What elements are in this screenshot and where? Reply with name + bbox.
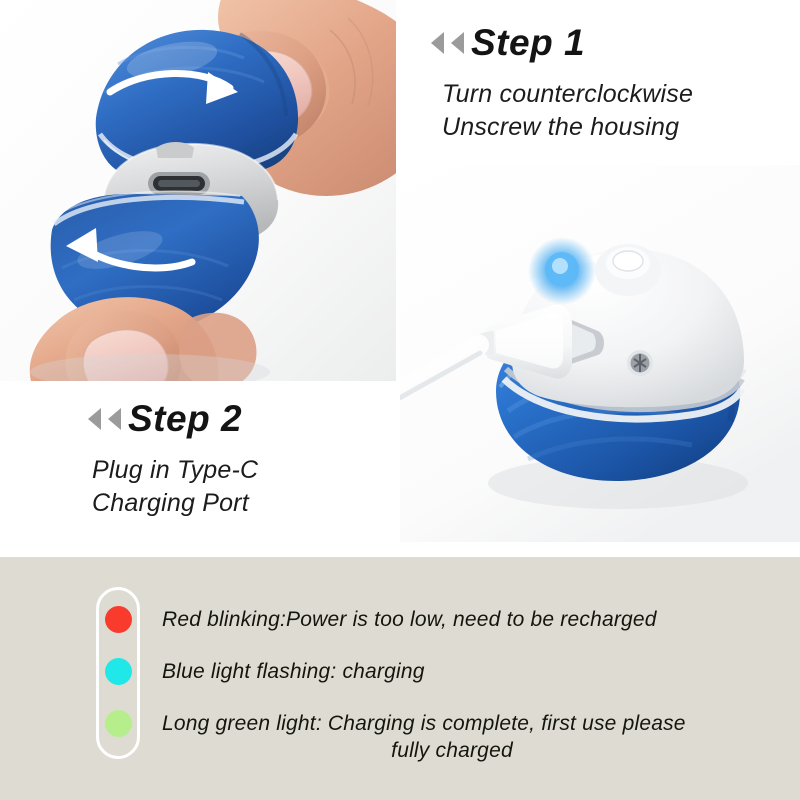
charging-illustration [400,165,800,542]
step-2-heading: Step 2 [88,400,242,437]
double-left-triangle-icon-a [431,32,444,54]
step-1-title: Step 1 [471,24,585,61]
step-2-title: Step 2 [128,400,242,437]
led-glow-icon [528,237,596,305]
unscrew-illustration [0,0,396,381]
step-1-heading: Step 1 [431,24,585,61]
legend-text-green-line2: fully charged [162,737,742,764]
step-1-body: Turn counterclockwise Unscrew the housin… [442,78,693,144]
legend-text-red: Red blinking:Power is too low, need to b… [162,606,657,633]
blue-indicator-dot [105,658,132,685]
legend-item-green: Long green light: Charging is complete, … [105,710,742,765]
step-2-block: Step 2 Plug in Type-C Charging Port [0,381,400,557]
red-indicator-dot [105,606,132,633]
step-1-block: Step 1 Turn counterclockwise Unscrew the… [400,0,800,165]
product-instruction-page: Step 1 Turn counterclockwise Unscrew the… [0,0,800,800]
step-2-body: Plug in Type-C Charging Port [92,454,258,520]
double-left-triangle-icon-d [108,408,121,430]
legend-text-green-line1: Long green light: Charging is complete, … [162,712,686,735]
top-button [595,244,661,296]
photo-unscrew-ball [0,0,396,381]
photo-charging-ball [400,165,800,542]
legend-item-red: Red blinking:Power is too low, need to b… [105,606,657,633]
legend-text-green: Long green light: Charging is complete, … [162,710,742,765]
double-left-triangle-icon-c [88,408,101,430]
legend-text-blue: Blue light flashing: charging [162,658,425,685]
legend-item-blue: Blue light flashing: charging [105,658,425,685]
green-indicator-dot [105,710,132,737]
screw-icon [627,350,653,376]
double-left-triangle-icon-b [451,32,464,54]
